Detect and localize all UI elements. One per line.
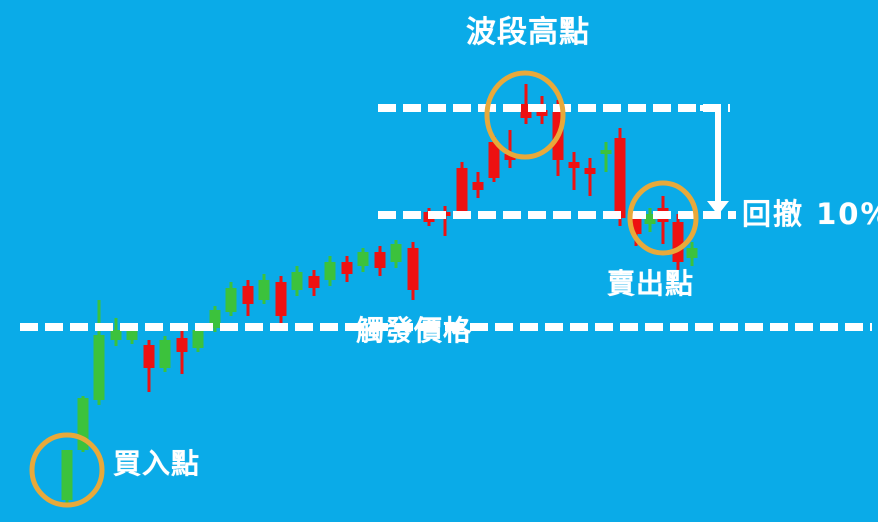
- candle-body-bearish: [375, 252, 386, 268]
- candle-wick: [444, 206, 447, 236]
- candle-body-bearish: [569, 162, 580, 168]
- candle-body-bearish: [144, 345, 155, 368]
- candle-body-bullish: [160, 340, 171, 368]
- candle-body-bearish: [473, 182, 484, 190]
- candle-wick: [509, 130, 512, 168]
- retracement-bracket-layer: [700, 108, 729, 215]
- candle-body-bullish: [292, 272, 303, 290]
- candlestick-chart-illustration: 波段高點 回撤 10% 賣出點 觸發價格 買入點: [0, 0, 878, 522]
- candle-body-bearish: [615, 138, 626, 218]
- chart-canvas: [0, 0, 878, 522]
- candle-body-bearish: [342, 262, 353, 274]
- candle-body-bullish: [358, 252, 369, 266]
- candle-body-bearish: [309, 276, 320, 288]
- candle-body-bullish: [391, 244, 402, 262]
- candle-wick: [573, 152, 576, 190]
- candle-body-bullish: [601, 150, 612, 154]
- candle-body-bearish: [457, 168, 468, 214]
- candle-body-bearish: [243, 286, 254, 304]
- candle-body-bullish: [62, 450, 73, 500]
- candle-body-bullish: [94, 335, 105, 400]
- candle-body-bullish: [226, 288, 237, 312]
- retracement-label: 回撤 10%: [742, 200, 878, 229]
- candle-body-bullish: [111, 330, 122, 340]
- candle-body-bullish: [259, 280, 270, 300]
- highlight-circles-layer: [32, 73, 696, 505]
- bracket-path: [700, 108, 718, 203]
- candle-body-bearish: [408, 248, 419, 290]
- candle-wick: [181, 331, 184, 374]
- candle-wick: [589, 158, 592, 196]
- swing-high-label: 波段高點: [466, 18, 590, 48]
- candle-body-bearish: [177, 338, 188, 352]
- candle-body-bullish: [193, 330, 204, 348]
- buy-point-label: 買入點: [113, 450, 200, 478]
- candle-body-bearish: [585, 168, 596, 174]
- candle-body-bearish: [276, 282, 287, 316]
- candle-body-bearish: [673, 222, 684, 262]
- candle-body-bullish: [325, 262, 336, 280]
- sell-point-label: 賣出點: [607, 270, 694, 298]
- candles-layer: [62, 84, 698, 505]
- trigger-price-label: 觸發價格: [356, 317, 472, 345]
- candle-body-bullish: [687, 248, 698, 258]
- candle-wick: [605, 142, 608, 172]
